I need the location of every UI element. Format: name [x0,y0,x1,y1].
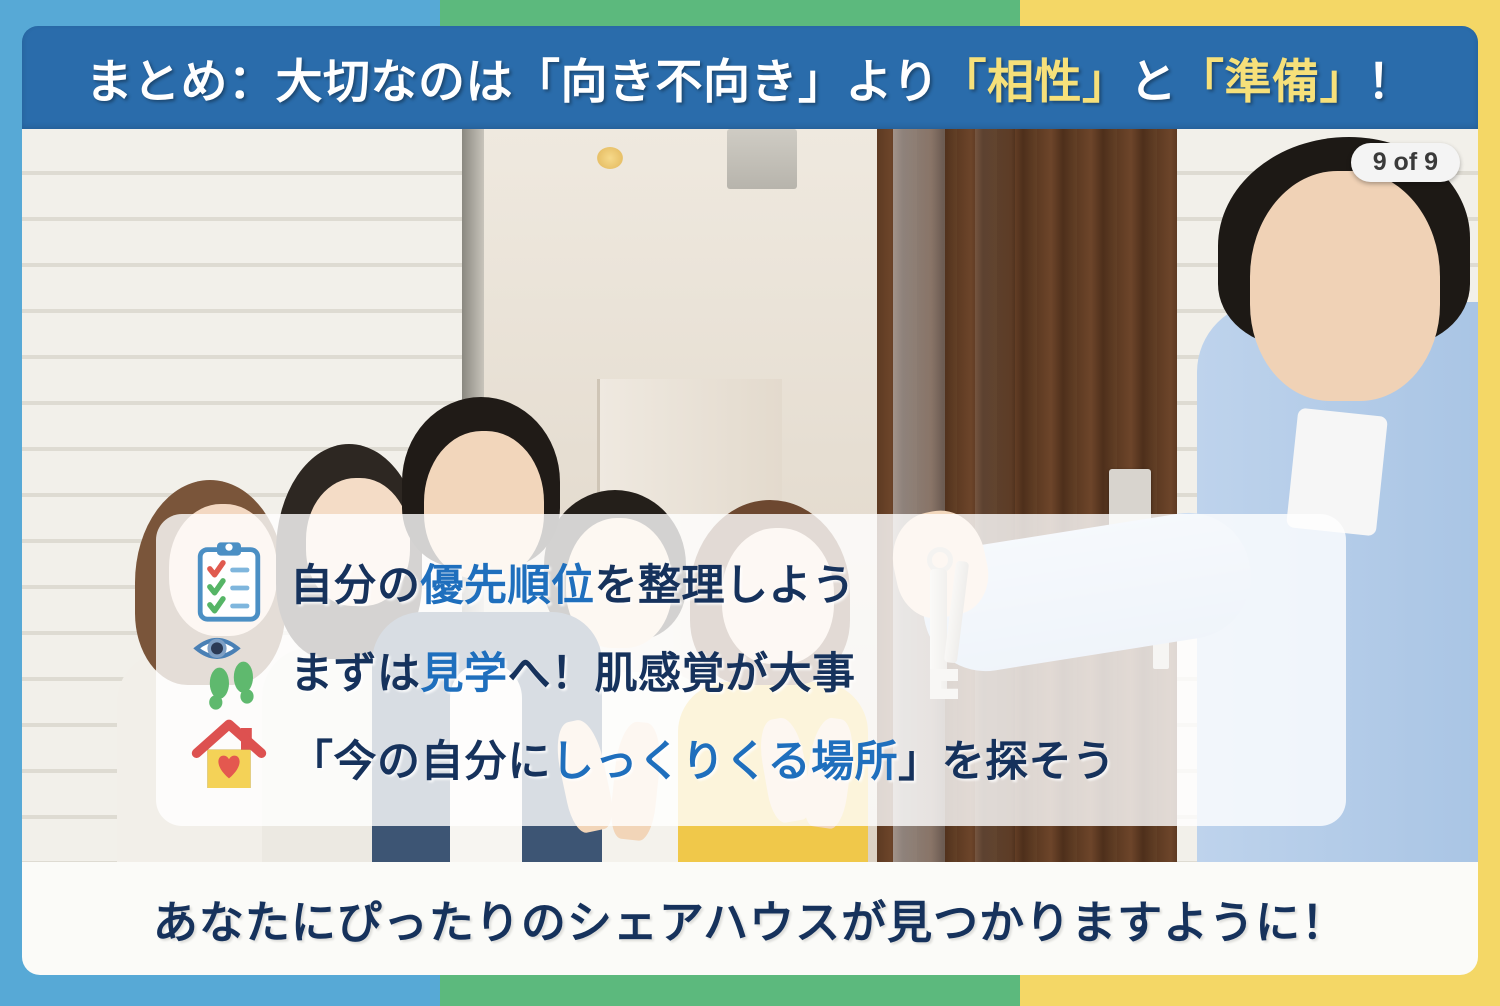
agent-head [1250,171,1440,401]
wall-unit [727,129,797,189]
point-suffix: を整理しよう [595,562,856,610]
page-title: まとめ：大切なのは「向き不向き」より「相性」と「準備」！ [85,43,1414,112]
ceiling-light-icon [597,147,623,169]
title-part-1: まとめ：大切なのは「向き不向き」より [85,55,939,108]
header-bar: まとめ：大切なのは「向き不向き」より「相性」と「準備」！ [22,26,1478,129]
key-points-card: 自分の優先順位を整理しよう まずは見学へ！肌感覚が大事 [156,514,1346,826]
clipboard-checklist-icon [190,540,268,624]
point-prefix: まずは [290,650,421,698]
point-highlight: しっくりくる場所 [551,738,898,786]
point-row: 「今の自分にしっくりくる場所」を探そう [190,715,1312,801]
title-highlight-1: 「相性」 [940,55,1130,108]
point-highlight: 優先順位 [421,562,595,610]
point-row: まずは見学へ！肌感覚が大事 [190,627,1312,713]
bottom-banner: あなたにぴったりのシェアハウスが見つかりますように！ [22,862,1478,975]
point-suffix: 」を探そう [898,738,1116,786]
point-prefix: 自分の [290,562,421,610]
point-suffix: へ！肌感覚が大事 [508,650,856,698]
title-part-2: と [1130,55,1178,108]
bottom-banner-text: あなたにぴったりのシェアハウスが見つかりますように！ [153,886,1347,951]
point-highlight: 見学 [421,650,508,698]
slide-root: 9 of 9 まとめ：大切なのは「向き不向き」より「相性」と「準備」！ [0,0,1500,1006]
point-text: 自分の優先順位を整理しよう [290,551,856,613]
point-row: 自分の優先順位を整理しよう [190,539,1312,625]
point-prefix: 「今の自分に [290,738,551,786]
point-text: 「今の自分にしっくりくる場所」を探そう [290,727,1116,789]
point-text: まずは見学へ！肌感覚が大事 [290,639,856,701]
house-heart-icon [190,716,268,800]
title-part-3: ！ [1367,55,1415,108]
title-highlight-2: 「準備」 [1177,55,1367,108]
page-counter-badge: 9 of 9 [1351,143,1460,182]
eye-footprints-icon [190,628,268,712]
